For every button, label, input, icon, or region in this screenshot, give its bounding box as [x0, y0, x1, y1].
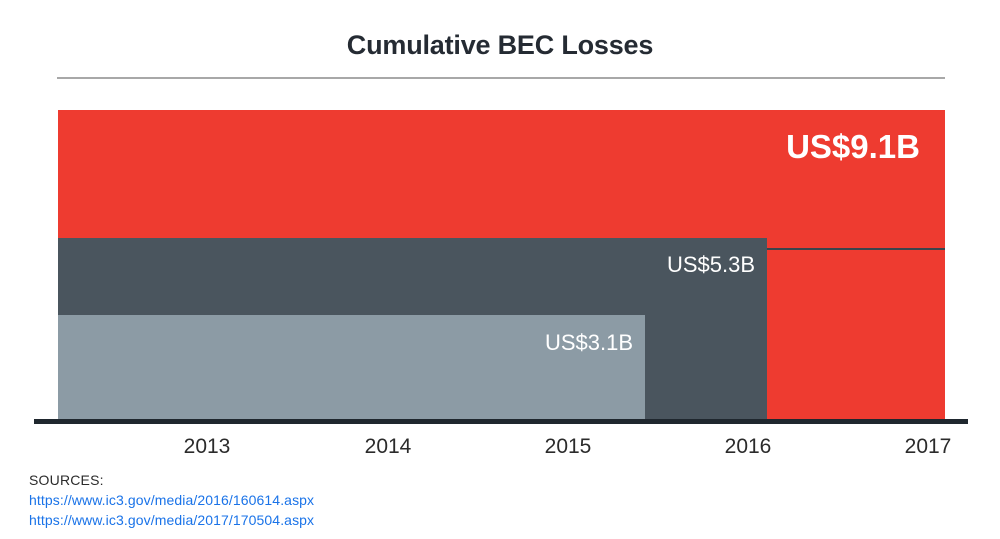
x-axis-line — [34, 419, 968, 424]
bar-label-2016: US$5.3B — [667, 252, 755, 278]
x-axis-tick-labels: 2013 2014 2015 2016 2017 — [0, 435, 1000, 463]
bar-2016-top-extension-line — [767, 248, 945, 250]
sources-heading: SOURCES: — [29, 470, 314, 490]
x-tick-2014: 2014 — [365, 435, 412, 459]
x-tick-2017: 2017 — [905, 435, 952, 459]
chart-canvas: Cumulative BEC Losses US$9.1B US$5.3B US… — [0, 0, 1000, 539]
bar-label-2017: US$9.1B — [786, 128, 920, 166]
bar-label-2015: US$3.1B — [545, 330, 633, 356]
x-tick-2016: 2016 — [725, 435, 772, 459]
sources-block: SOURCES: https://www.ic3.gov/media/2016/… — [29, 470, 314, 530]
source-link-1[interactable]: https://www.ic3.gov/media/2016/160614.as… — [29, 490, 314, 510]
source-link-2[interactable]: https://www.ic3.gov/media/2017/170504.as… — [29, 510, 314, 530]
x-tick-2015: 2015 — [545, 435, 592, 459]
x-tick-2013: 2013 — [184, 435, 231, 459]
